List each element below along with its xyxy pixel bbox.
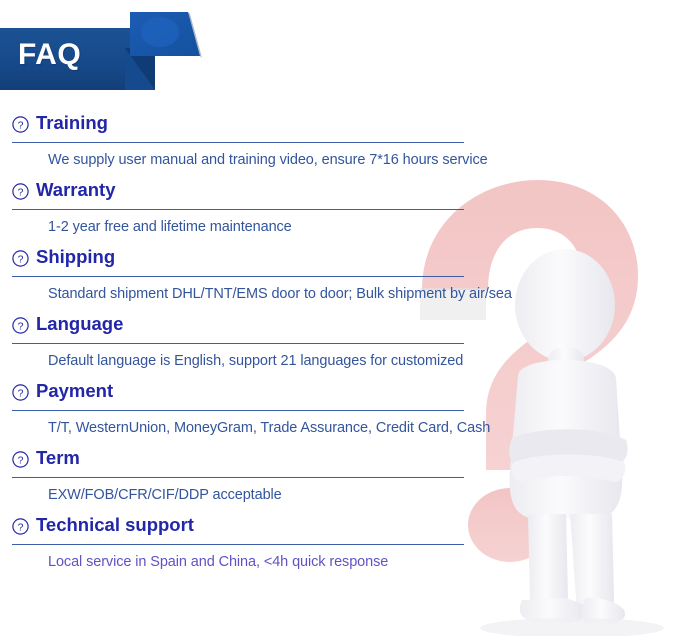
faq-item-training: ? Training We supply user manual and tra…	[0, 110, 680, 168]
faq-header: ? Technical support	[12, 512, 680, 538]
faq-header: ? Payment	[12, 378, 680, 404]
faq-divider	[12, 343, 464, 344]
faq-item-body: Standard shipment DHL/TNT/EMS door to do…	[12, 286, 680, 302]
page-title: FAQ	[18, 40, 81, 70]
faq-header: ? Training	[12, 110, 680, 136]
faq-header: ? Shipping	[12, 244, 680, 270]
faq-item-body: 1-2 year free and lifetime maintenance	[12, 219, 680, 235]
question-circle-icon: ?	[12, 250, 29, 267]
faq-banner: FAQ	[0, 12, 250, 90]
svg-text:?: ?	[18, 454, 24, 466]
svg-text:?: ?	[18, 521, 24, 533]
faq-item-term: ? Term EXW/FOB/CFR/CIF/DDP acceptable	[0, 445, 680, 503]
svg-text:?: ?	[18, 119, 24, 131]
faq-item-body: EXW/FOB/CFR/CIF/DDP acceptable	[12, 487, 680, 503]
question-circle-icon: ?	[12, 317, 29, 334]
faq-item-title: Warranty	[36, 181, 116, 200]
faq-item-body: We supply user manual and training video…	[12, 152, 680, 168]
faq-divider	[12, 209, 464, 210]
faq-header: ? Term	[12, 445, 680, 471]
faq-graphic: FAQ ? Training We supply user manual and…	[0, 0, 680, 636]
question-circle-icon: ?	[12, 116, 29, 133]
faq-divider	[12, 276, 464, 277]
faq-item-body: T/T, WesternUnion, MoneyGram, Trade Assu…	[12, 420, 680, 436]
faq-item-title: Technical support	[36, 516, 194, 535]
faq-item-shipping: ? Shipping Standard shipment DHL/TNT/EMS…	[0, 244, 680, 302]
faq-header: ? Language	[12, 311, 680, 337]
faq-divider	[12, 544, 464, 545]
faq-divider	[12, 142, 464, 143]
faq-item-language: ? Language Default language is English, …	[0, 311, 680, 369]
faq-item-warranty: ? Warranty 1-2 year free and lifetime ma…	[0, 177, 680, 235]
question-circle-icon: ?	[12, 518, 29, 535]
faq-list: ? Training We supply user manual and tra…	[0, 110, 680, 579]
faq-item-body: Default language is English, support 21 …	[12, 353, 680, 369]
banner-tab-circle	[141, 17, 179, 47]
faq-item-title: Training	[36, 114, 108, 133]
faq-item-title: Payment	[36, 382, 113, 401]
faq-item-title: Shipping	[36, 248, 115, 267]
faq-item-body: Local service in Spain and China, <4h qu…	[12, 554, 680, 570]
question-circle-icon: ?	[12, 451, 29, 468]
faq-item-title: Language	[36, 315, 123, 334]
faq-divider	[12, 477, 464, 478]
question-circle-icon: ?	[12, 183, 29, 200]
faq-item-title: Term	[36, 449, 80, 468]
faq-item-technical-support: ? Technical support Local service in Spa…	[0, 512, 680, 570]
svg-text:?: ?	[18, 387, 24, 399]
faq-header: ? Warranty	[12, 177, 680, 203]
faq-divider	[12, 410, 464, 411]
faq-item-payment: ? Payment T/T, WesternUnion, MoneyGram, …	[0, 378, 680, 436]
question-circle-icon: ?	[12, 384, 29, 401]
svg-text:?: ?	[18, 186, 24, 198]
svg-text:?: ?	[18, 253, 24, 265]
svg-text:?: ?	[18, 320, 24, 332]
